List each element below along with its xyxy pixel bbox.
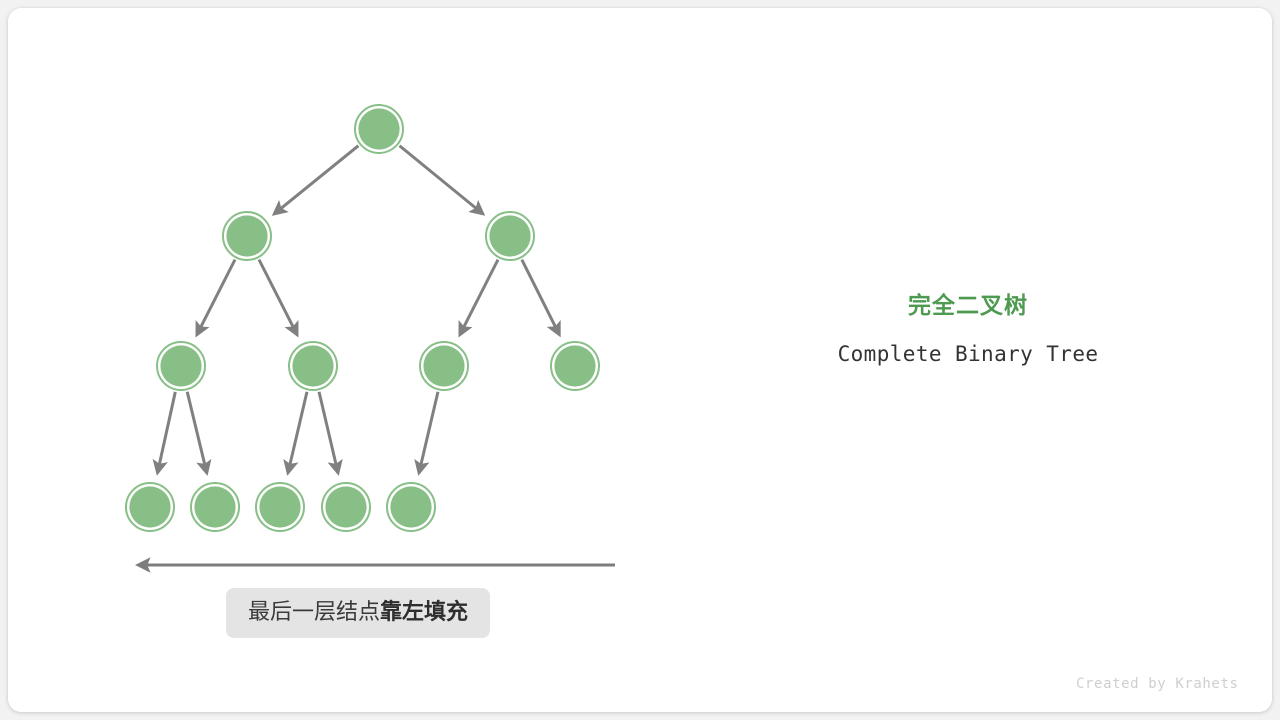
tree-node: [191, 483, 239, 531]
tree-edge: [460, 260, 498, 335]
caption-normal-text: 最后一层结点: [248, 599, 380, 624]
tree-node: [322, 483, 370, 531]
tree-node-fill: [554, 345, 595, 386]
tree-edge: [274, 146, 358, 214]
legend-title-zh: 完全二叉树: [768, 290, 1168, 320]
tree-node: [126, 483, 174, 531]
tree-node: [551, 342, 599, 390]
tree-node: [420, 342, 468, 390]
tree-node: [355, 105, 403, 153]
tree-node-fill: [390, 486, 431, 527]
tree-node-fill: [358, 108, 399, 149]
tree-node-fill: [489, 215, 530, 256]
caption-badge: 最后一层结点靠左填充: [226, 588, 490, 638]
tree-edge-layer: [158, 146, 560, 473]
tree-edge: [419, 392, 438, 473]
tree-edge: [197, 260, 235, 335]
tree-node: [289, 342, 337, 390]
tree-node: [387, 483, 435, 531]
tree-edge: [319, 392, 338, 473]
tree-node-layer: [126, 105, 599, 531]
legend-title-en: Complete Binary Tree: [768, 340, 1168, 368]
tree-node-fill: [194, 486, 235, 527]
caption-bold-text: 靠左填充: [380, 599, 468, 624]
tree-node: [256, 483, 304, 531]
tree-node-fill: [129, 486, 170, 527]
tree-edge: [400, 146, 483, 214]
tree-node-fill: [292, 345, 333, 386]
diagram-canvas: 完全二叉树 Complete Binary Tree 最后一层结点靠左填充 Cr…: [0, 0, 1280, 720]
tree-edge: [187, 392, 207, 473]
tree-node-fill: [226, 215, 267, 256]
tree-node: [486, 212, 534, 260]
tree-node: [223, 212, 271, 260]
tree-node-fill: [423, 345, 464, 386]
tree-node: [157, 342, 205, 390]
tree-node-fill: [259, 486, 300, 527]
legend-block: 完全二叉树 Complete Binary Tree: [768, 290, 1168, 368]
tree-node-fill: [160, 345, 201, 386]
tree-edge: [522, 260, 559, 335]
tree-edge: [158, 392, 176, 473]
credit-text: Created by Krahets: [1076, 676, 1239, 692]
tree-node-fill: [325, 486, 366, 527]
tree-edge: [259, 260, 297, 335]
tree-edge: [288, 392, 307, 473]
